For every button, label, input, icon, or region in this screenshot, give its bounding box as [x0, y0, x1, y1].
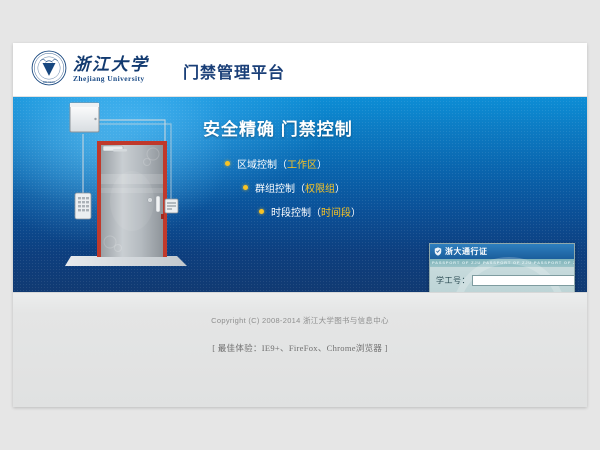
feature-highlight: 权限组 — [305, 180, 335, 195]
feature-highlight: 时间段 — [321, 204, 351, 219]
bullet-dot-icon — [225, 161, 230, 166]
feature-item-group-control: 群组控制（ 权限组 ） — [203, 180, 418, 195]
login-form: 学工号： 密 码： — [430, 267, 574, 292]
hero-copy: 安全精确 门禁控制 区域控制（ 工作区 ） 群组控制（ 权限组 ） 时段控制（ — [203, 115, 418, 228]
feature-highlight: 工作区 — [287, 156, 317, 171]
login-watermark: PASSPORT OF ZJU PASSPORT OF ZJU PASSPORT… — [430, 259, 574, 267]
copyright-text: Copyright (C) 2008-2014 浙江大学图书与信息中心 — [13, 293, 587, 326]
logo-name-cn: 浙江大学 — [73, 56, 149, 73]
feature-item-area-control: 区域控制（ 工作区 ） — [203, 156, 418, 171]
svg-text:ZHEJIANG: ZHEJIANG — [43, 81, 55, 84]
feature-suffix: ） — [317, 156, 327, 171]
access-control-door-illustration — [53, 97, 203, 292]
student-staff-id-field[interactable] — [472, 275, 575, 286]
controller-box — [70, 103, 99, 132]
floor-slab — [65, 256, 187, 266]
site-header: ZHEJIANG 浙江大学 Zhejiang University 门禁管理平台 — [13, 43, 587, 97]
bullet-dot-icon — [243, 185, 248, 190]
logo-name-en: Zhejiang University — [73, 75, 149, 83]
keypad-reader — [75, 193, 91, 219]
field-row-student-staff-id: 学工号： — [436, 275, 568, 286]
feature-list: 区域控制（ 工作区 ） 群组控制（ 权限组 ） 时段控制（ 时间段 ） — [203, 156, 418, 219]
login-panel-title: 浙大通行证 — [445, 246, 488, 257]
zju-seal-icon: ZHEJIANG — [31, 50, 67, 86]
feature-label: 群组控制（ — [255, 180, 305, 195]
hero-headline: 安全精确 门禁控制 — [203, 115, 418, 140]
browser-support-note: [ 最佳体验：IE9+、FireFox、Chrome浏览器 ] — [13, 326, 587, 354]
student-staff-id-label: 学工号： — [436, 275, 472, 286]
hero-banner: 安全精确 门禁控制 区域控制（ 工作区 ） 群组控制（ 权限组 ） 时段控制（ — [13, 97, 587, 292]
card-reader — [165, 199, 178, 213]
shield-icon — [434, 247, 442, 256]
door-handle — [156, 196, 160, 212]
bullet-dot-icon — [259, 209, 264, 214]
feature-suffix: ） — [335, 180, 345, 195]
feature-item-time-control: 时段控制（ 时间段 ） — [203, 204, 418, 219]
page-frame: ZHEJIANG 浙江大学 Zhejiang University 门禁管理平台 — [13, 43, 587, 407]
feature-suffix: ） — [351, 204, 361, 219]
site-footer: Copyright (C) 2008-2014 浙江大学图书与信息中心 [ 最佳… — [13, 292, 587, 407]
page-title: 门禁管理平台 — [183, 59, 285, 83]
login-panel-header: 浙大通行证 — [430, 244, 574, 259]
feature-label: 区域控制（ — [237, 156, 287, 171]
site-logo[interactable]: ZHEJIANG 浙江大学 Zhejiang University — [31, 50, 149, 86]
feature-label: 时段控制（ — [271, 204, 321, 219]
login-panel: 浙大通行证 PASSPORT OF ZJU PASSPORT OF ZJU PA… — [429, 243, 575, 292]
